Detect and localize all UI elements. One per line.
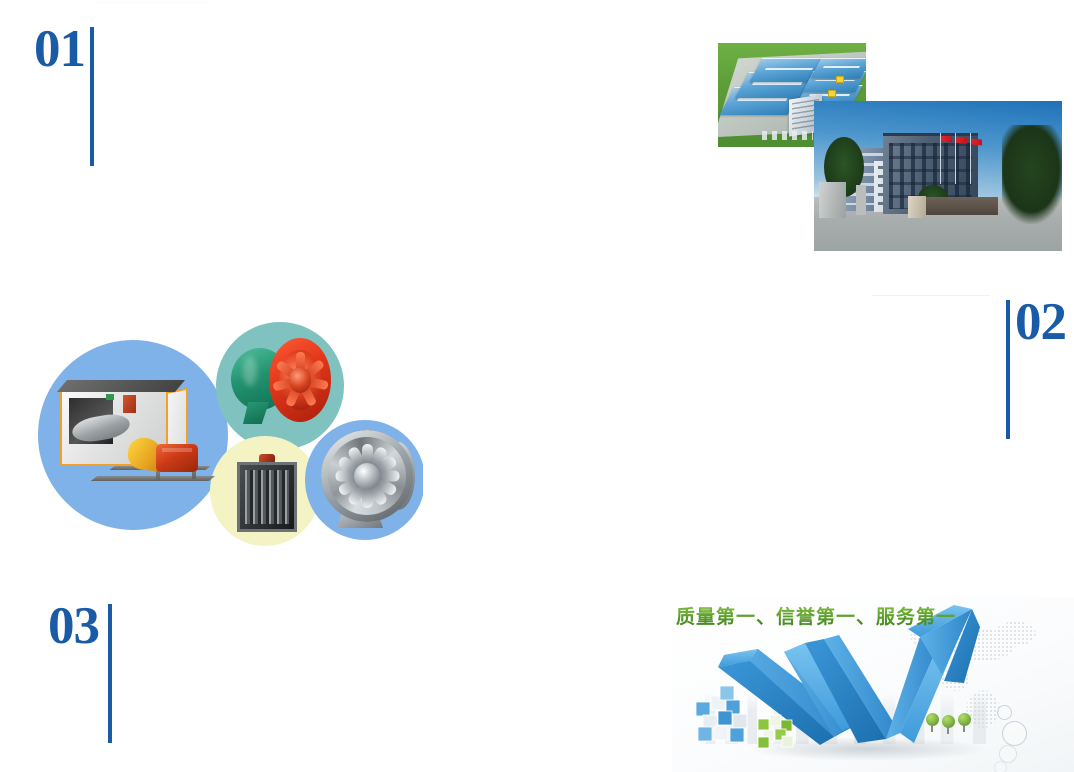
hairline-divider-02 xyxy=(872,295,990,296)
flagpole xyxy=(940,133,941,184)
cabinet-top-panel xyxy=(57,380,185,392)
flagpole xyxy=(970,133,971,184)
bubble-decoration xyxy=(997,705,1012,720)
section-marker-01: 01 xyxy=(34,23,94,166)
office-building-photo xyxy=(814,101,1062,251)
factory-hall xyxy=(810,58,866,78)
fan-hub xyxy=(354,463,380,489)
fan-hub xyxy=(289,367,311,393)
fan-shell xyxy=(321,430,413,522)
section-number-01: 01 xyxy=(34,23,85,76)
green-red-axial-flow-fan xyxy=(229,336,333,436)
tree-icon xyxy=(942,715,955,734)
photo-kiosk xyxy=(908,196,925,219)
product-collage-image xyxy=(33,316,423,549)
section-marker-03: 03 xyxy=(48,600,112,743)
red-flag xyxy=(971,139,982,146)
section-rule-01 xyxy=(90,27,94,166)
section-rule-02 xyxy=(1006,300,1010,439)
electric-motor xyxy=(156,444,198,472)
section-number-03: 03 xyxy=(48,600,99,653)
axial-fan-bore xyxy=(279,350,321,410)
render-yard-vehicles xyxy=(762,131,812,139)
cabinet-control-panel xyxy=(123,395,136,413)
air-damper-filter-box xyxy=(237,454,297,532)
growth-arrow-banner-image: 质量第一、信誉第一、服务第一 xyxy=(672,597,1074,772)
red-flag xyxy=(956,137,967,144)
damper-frame xyxy=(237,462,297,532)
cabinet-centrifugal-fan-unit xyxy=(60,378,215,493)
red-flag xyxy=(941,136,952,143)
flagpole xyxy=(955,133,956,184)
section-marker-02: 02 xyxy=(1006,296,1066,439)
render-marker xyxy=(828,90,836,97)
tree-icon xyxy=(926,713,939,732)
page-root: 01 xyxy=(0,0,1074,772)
photo-tree-cluster xyxy=(1002,125,1062,224)
render-marker xyxy=(836,76,844,83)
growth-banner-caption: 质量第一、信誉第一、服务第一 xyxy=(676,602,956,629)
section-rule-03 xyxy=(108,604,112,743)
axial-fan-housing xyxy=(269,338,331,422)
tree-icon xyxy=(958,713,971,732)
bubble-decoration xyxy=(1002,721,1027,746)
section-number-02: 02 xyxy=(1015,296,1066,349)
top-left-artifact xyxy=(96,1,208,4)
green-cube-stack xyxy=(756,709,796,749)
bubble-decoration xyxy=(994,761,1007,772)
photo-gatehouse xyxy=(819,182,846,218)
fan-base-rail xyxy=(91,476,215,481)
photo-gate-post xyxy=(856,185,866,215)
damper-blades xyxy=(245,470,289,524)
metal-axial-fan xyxy=(315,428,419,532)
cabinet-indicator xyxy=(106,394,114,400)
blue-cube-stack xyxy=(694,682,756,744)
